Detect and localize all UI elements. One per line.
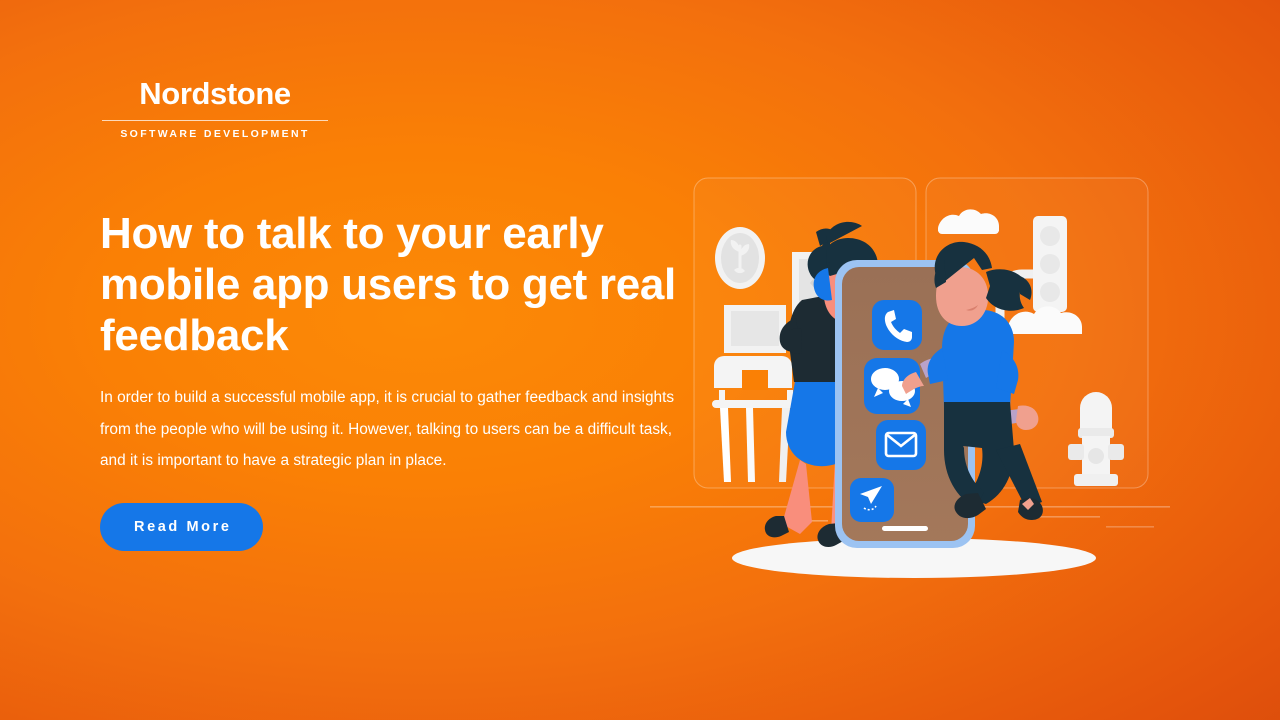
read-more-button[interactable]: Read More	[100, 503, 263, 551]
logo-tagline: SOFTWARE DEVELOPMENT	[100, 128, 330, 140]
landscape-frame	[724, 305, 786, 353]
oval-plant-frame	[715, 227, 765, 289]
logo-wordmark: Nordstone	[100, 78, 330, 111]
hero-illustration	[650, 160, 1170, 600]
app-icon-paper-plane[interactable]	[850, 478, 894, 522]
page-title: How to talk to your early mobile app use…	[100, 208, 700, 361]
app-icon-phone-call[interactable]	[872, 300, 922, 350]
hero-description: In order to build a successful mobile ap…	[100, 382, 680, 476]
hero-background: Nordstone SOFTWARE DEVELOPMENT How to ta…	[0, 0, 1280, 720]
hero-copy-block: How to talk to your early mobile app use…	[100, 208, 700, 551]
app-icon-envelope[interactable]	[876, 420, 926, 470]
logo-divider	[102, 120, 328, 121]
brand-logo[interactable]: Nordstone SOFTWARE DEVELOPMENT	[100, 78, 330, 140]
